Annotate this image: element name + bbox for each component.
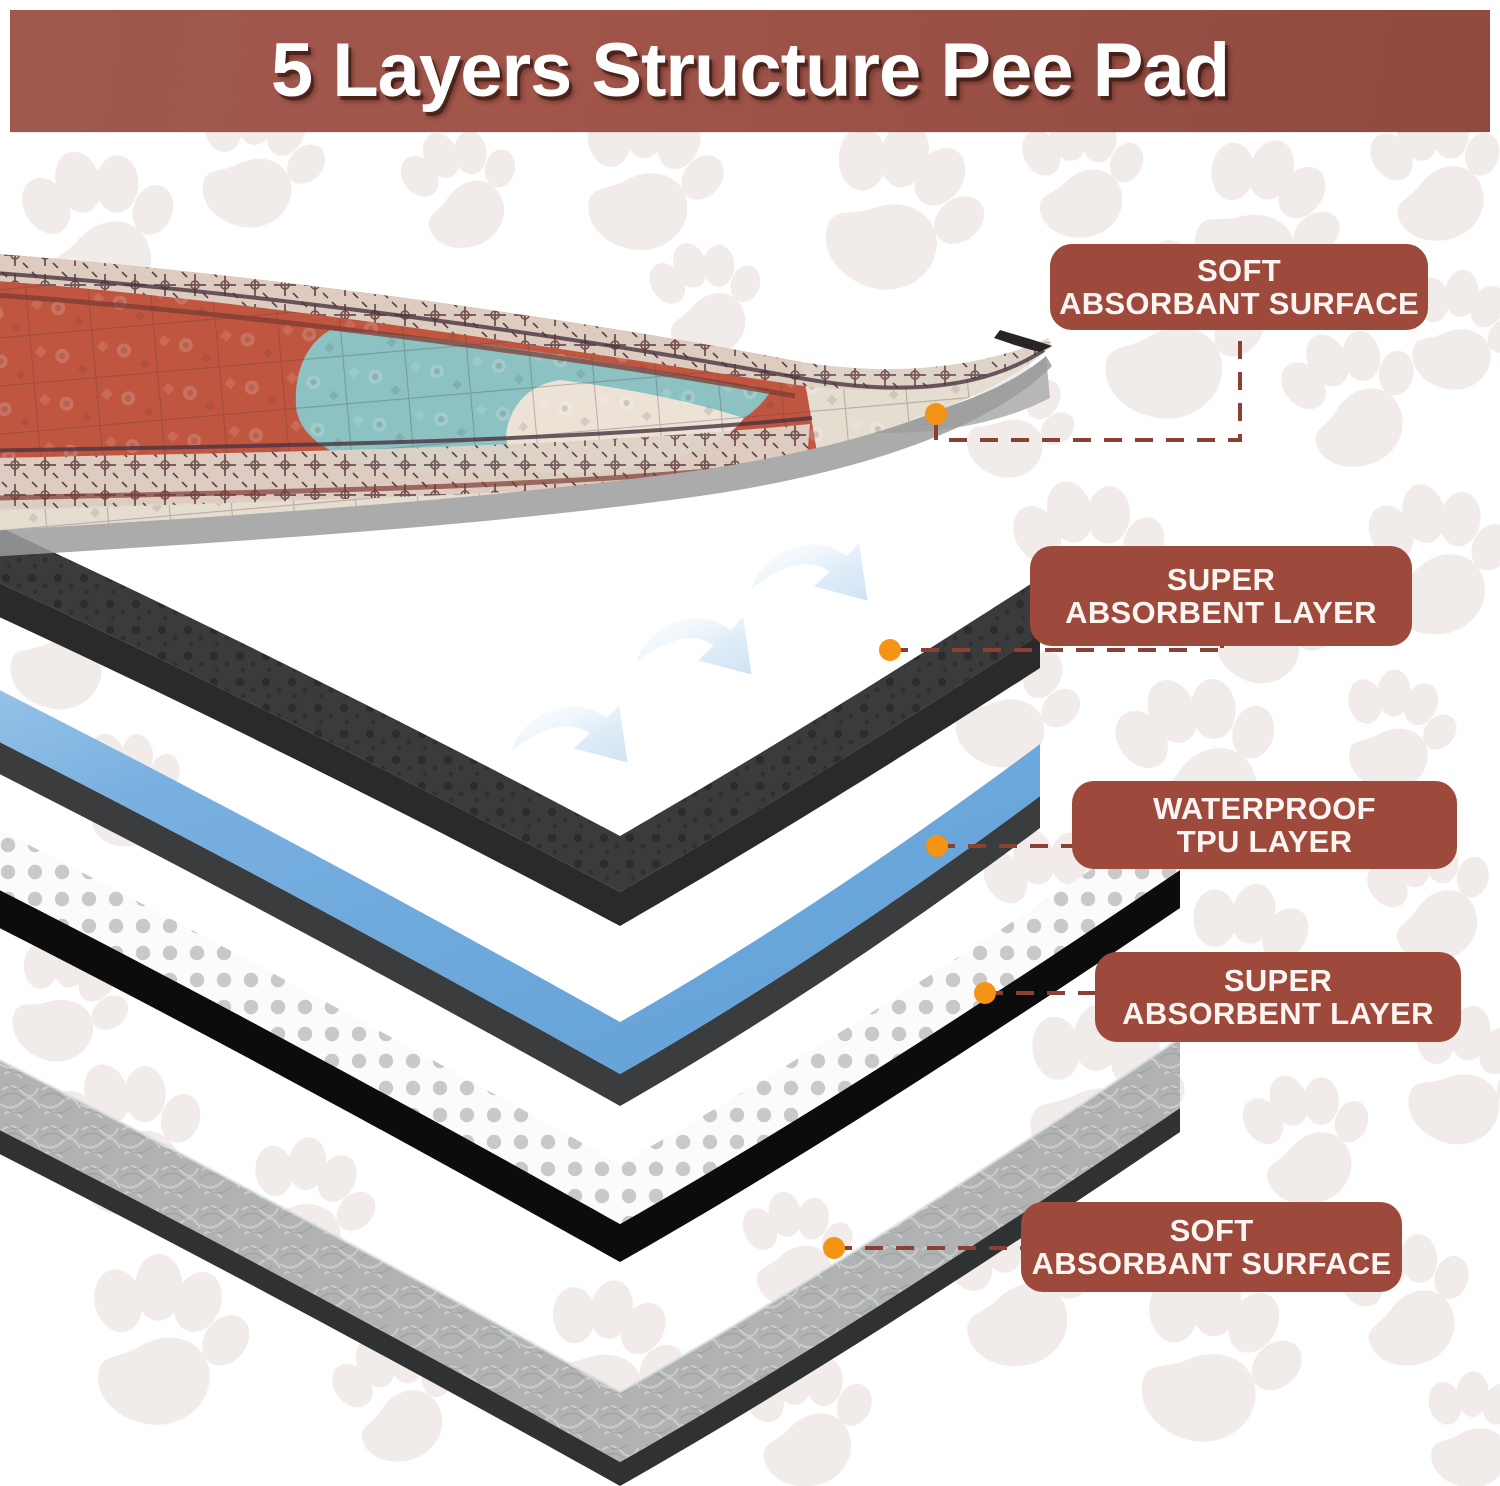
- callout-label-super-absorbent-layer-upper[interactable]: SUPER ABSORBENT LAYER: [1030, 546, 1412, 646]
- callout-label-waterproof-tpu-layer[interactable]: WATERPROOF TPU LAYER: [1072, 781, 1457, 869]
- callout-label-line1: SUPER: [1224, 964, 1332, 997]
- infographic-canvas: 5 Layers Structure Pee Pad: [0, 0, 1500, 1486]
- callout-label-line1: SOFT: [1170, 1214, 1254, 1247]
- callout-label-line2: TPU LAYER: [1177, 825, 1353, 858]
- callout-label-soft-absorbant-surface-bottom[interactable]: SOFT ABSORBANT SURFACE: [1021, 1202, 1402, 1292]
- callout-label-line1: SOFT: [1197, 254, 1281, 287]
- connector-line-2: [890, 648, 1222, 650]
- connector-line-1: [936, 332, 1240, 440]
- callout-label-line2: ABSORBANT SURFACE: [1032, 1247, 1392, 1280]
- connector-dot-icon-4: [974, 982, 996, 1004]
- callout-label-line2: ABSORBENT LAYER: [1065, 596, 1377, 629]
- callout-label-line2: ABSORBENT LAYER: [1122, 997, 1434, 1030]
- callout-label-line1: WATERPROOF: [1153, 792, 1376, 825]
- callout-label-super-absorbent-layer-lower[interactable]: SUPER ABSORBENT LAYER: [1095, 952, 1461, 1042]
- connector-dot-icon-5: [823, 1237, 845, 1259]
- callout-label-line2: ABSORBANT SURFACE: [1059, 287, 1419, 320]
- connector-dot-icon-2: [879, 639, 901, 661]
- callout-label-line1: SUPER: [1167, 563, 1275, 596]
- callout-label-soft-absorbant-surface-top[interactable]: SOFT ABSORBANT SURFACE: [1050, 244, 1428, 330]
- connector-dot-icon-1: [925, 403, 947, 425]
- connector-dot-icon-3: [926, 835, 948, 857]
